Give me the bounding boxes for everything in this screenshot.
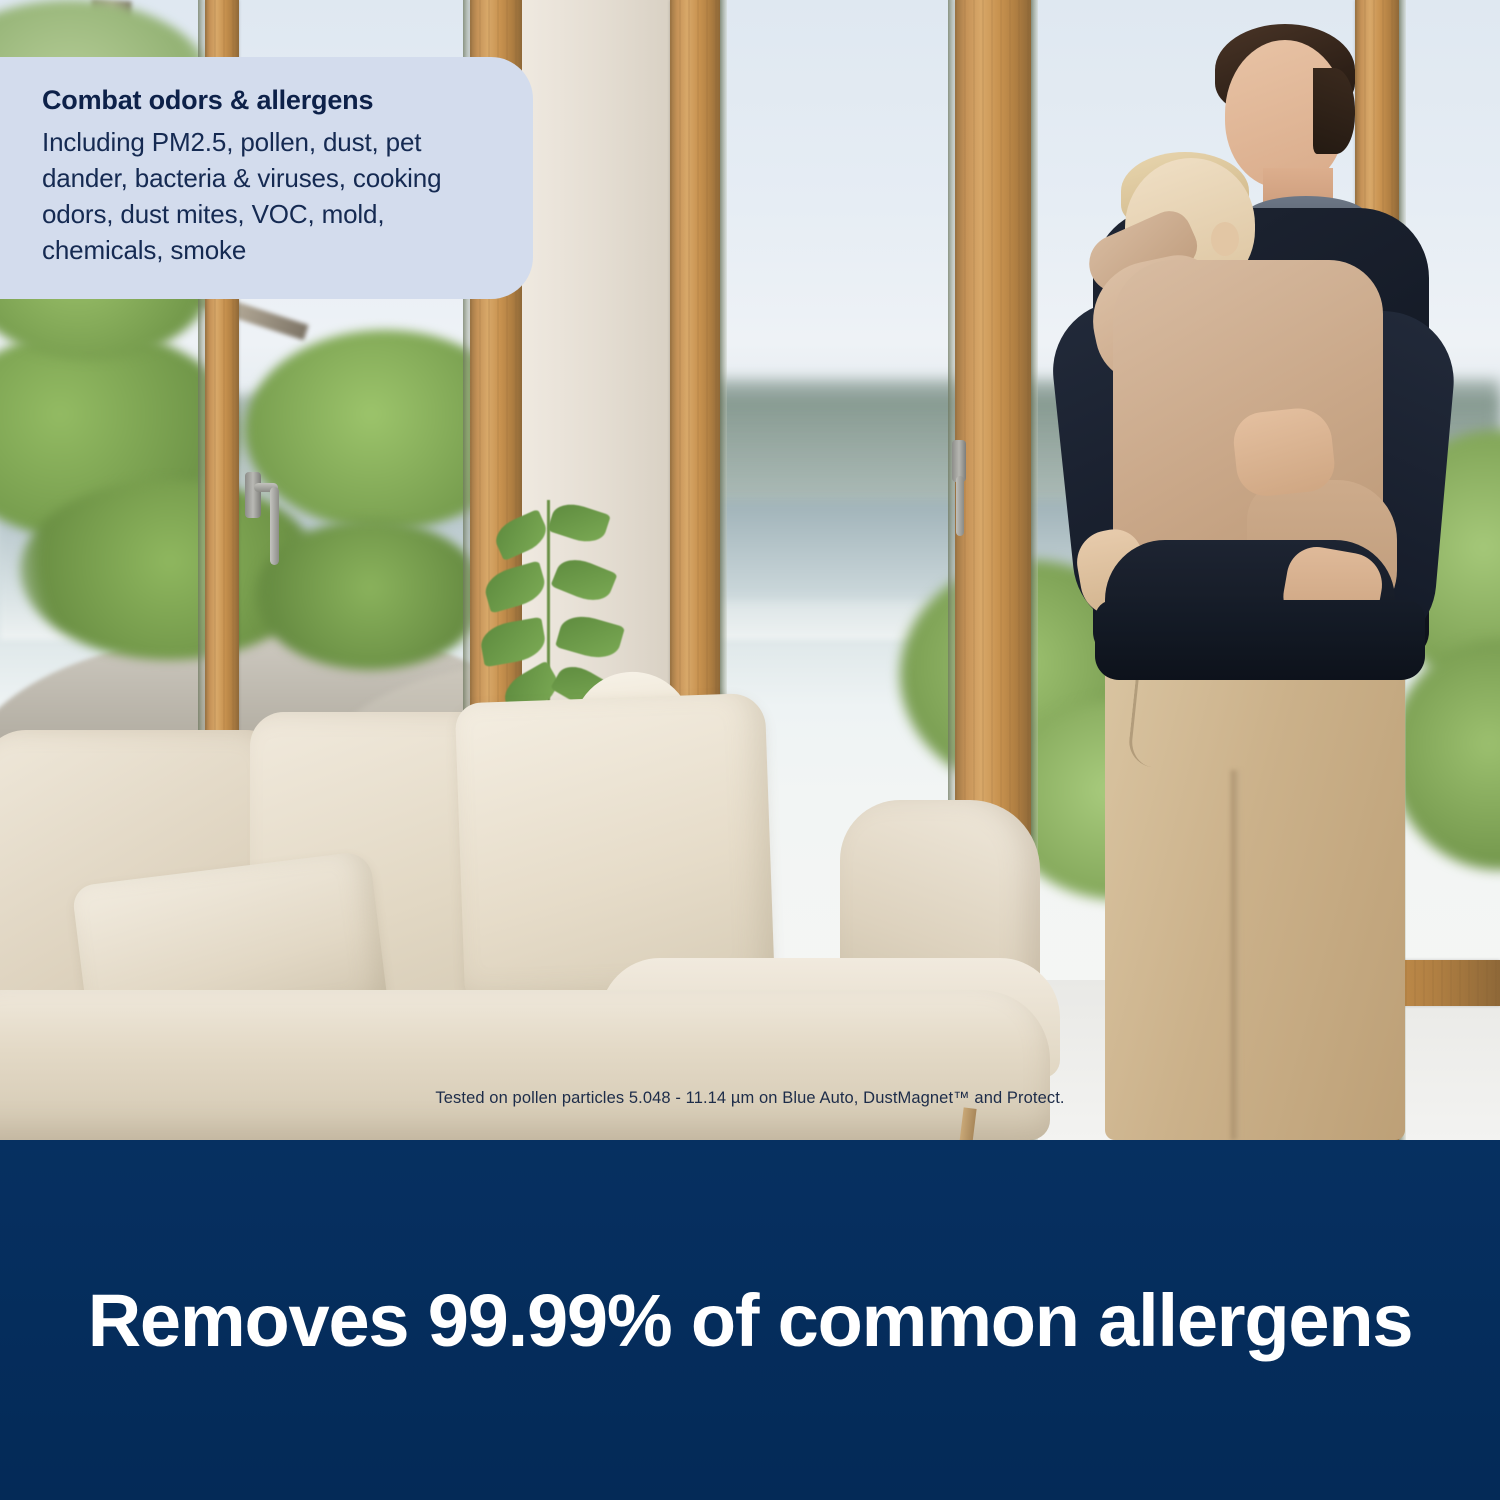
callout-body: Including PM2.5, pollen, dust, pet dande… <box>42 125 487 269</box>
plant-leaf <box>550 552 617 607</box>
sweater-hem <box>1095 600 1425 680</box>
pants-seam <box>1231 770 1241 1140</box>
hair-side <box>1313 68 1355 154</box>
plant-leaf <box>547 498 611 548</box>
plant-leaf <box>481 560 549 613</box>
man-holding-baby <box>1035 10 1455 1140</box>
plant-leaf <box>555 610 625 664</box>
lifestyle-photo: Combat odors & allergens Including PM2.5… <box>0 0 1500 1140</box>
sofa-seat <box>0 990 1050 1140</box>
banner-headline: Removes 99.99% of common allergens <box>88 1278 1413 1363</box>
window-handle[interactable] <box>245 472 261 518</box>
feature-callout-card: Combat odors & allergens Including PM2.5… <box>0 57 533 299</box>
plant-leaf <box>490 509 551 561</box>
disclaimer-text: Tested on pollen particles 5.048 - 11.14… <box>0 1089 1500 1108</box>
hand <box>1231 405 1337 499</box>
window-handle-secondary-lever[interactable] <box>956 476 964 536</box>
foliage <box>255 520 485 670</box>
plant-leaf <box>478 617 548 668</box>
sofa <box>0 690 1090 1120</box>
pants-pocket <box>1127 679 1198 771</box>
headline-banner: Removes 99.99% of common allergens <box>0 1140 1500 1500</box>
baby-ear <box>1211 222 1239 256</box>
product-feature-image: Combat odors & allergens Including PM2.5… <box>0 0 1500 1500</box>
callout-title: Combat odors & allergens <box>42 85 487 116</box>
window-handle-lever[interactable] <box>270 487 279 565</box>
